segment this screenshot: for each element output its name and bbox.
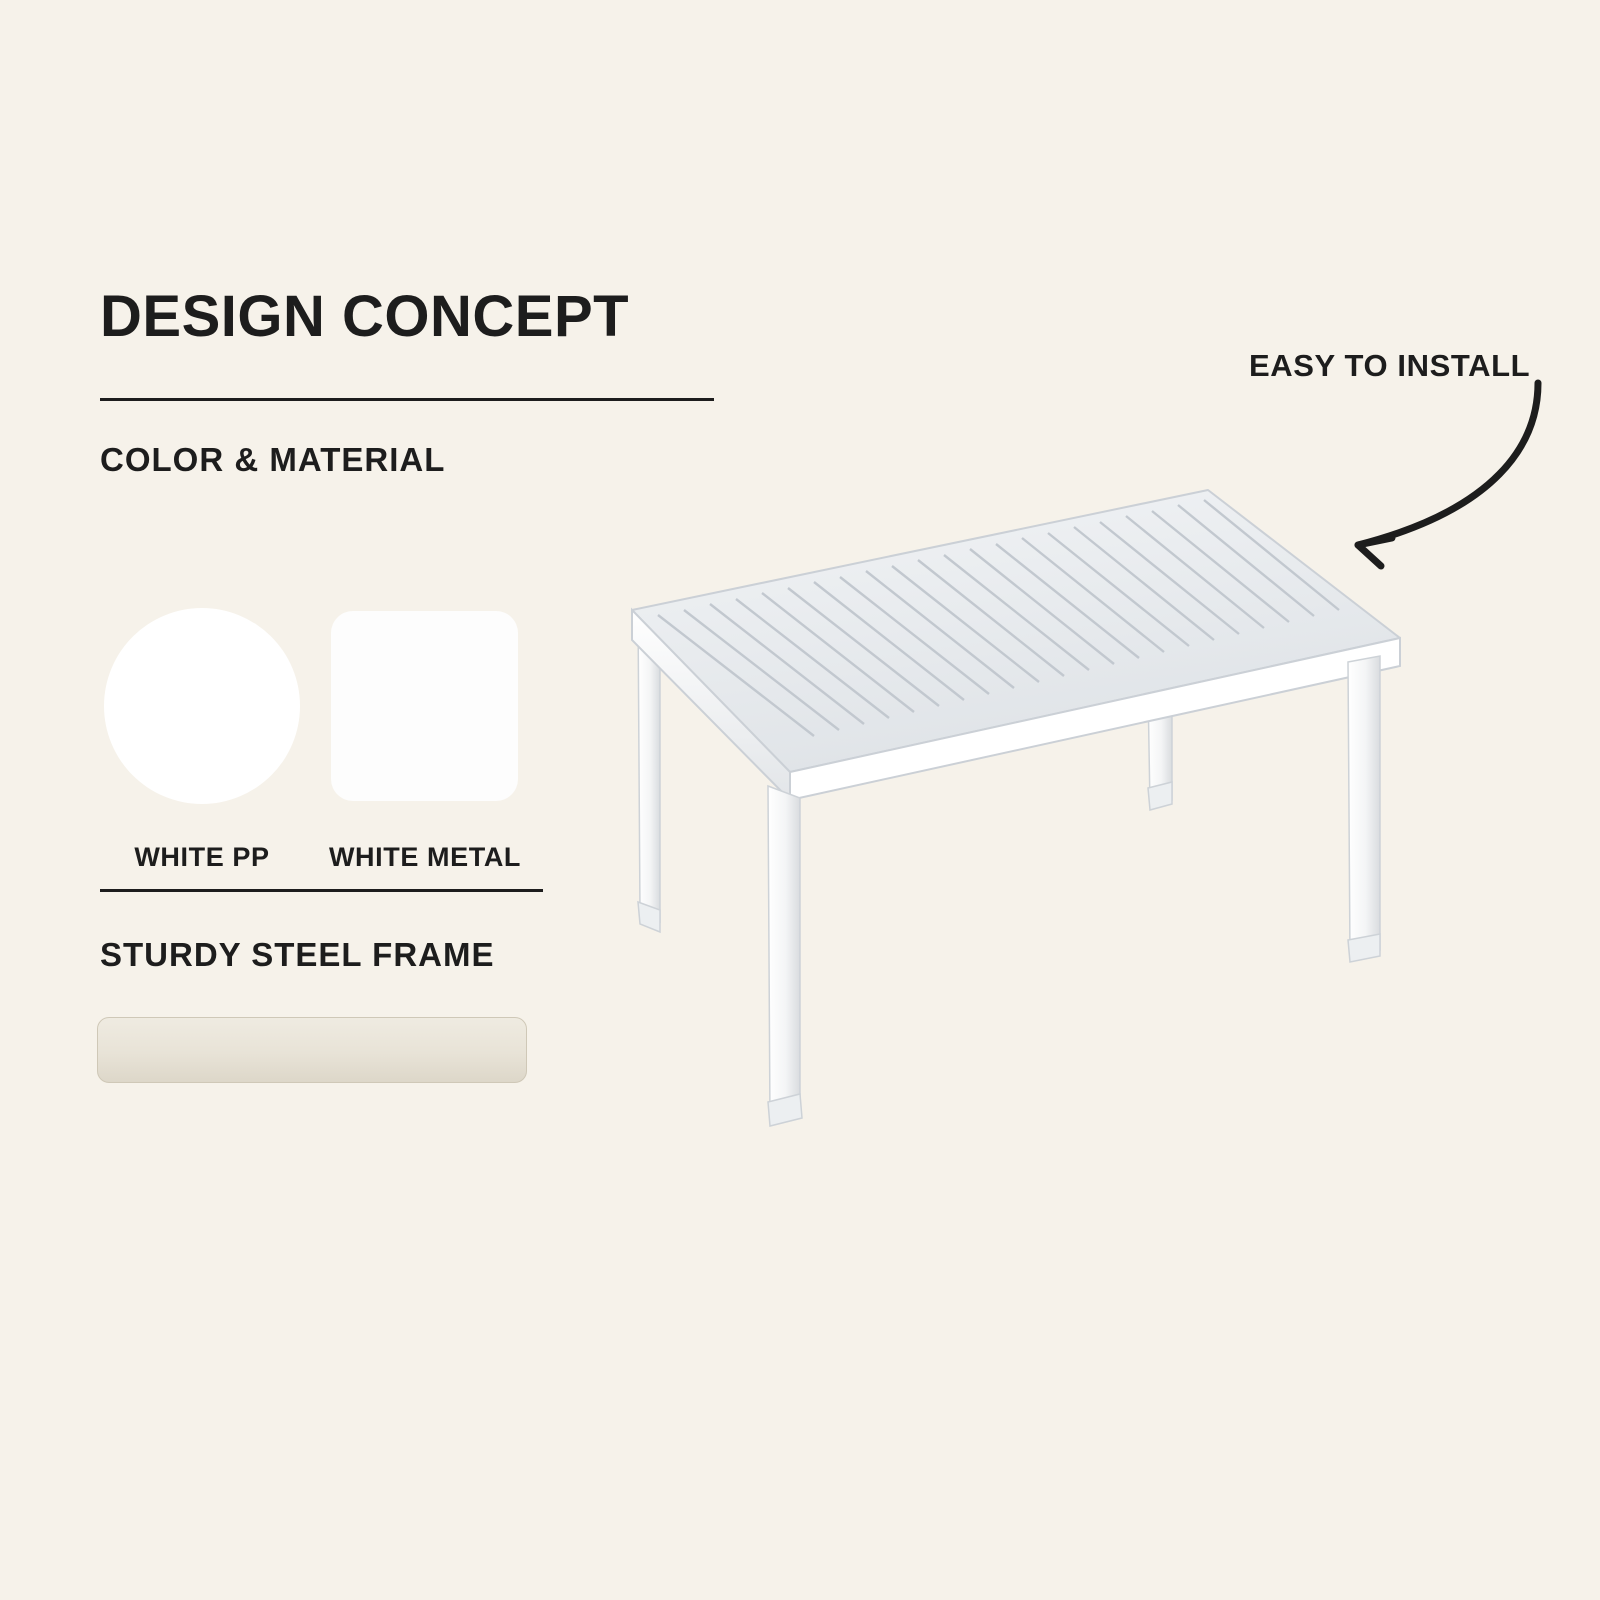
- swatch-white-pp: [104, 608, 300, 804]
- table-svg: [600, 470, 1480, 1150]
- section-title-sturdy-steel-frame: STURDY STEEL FRAME: [100, 936, 495, 974]
- section-title-color-material: COLOR & MATERIAL: [100, 441, 445, 479]
- page-title: DESIGN CONCEPT: [100, 288, 629, 346]
- swatch-divider: [100, 889, 543, 892]
- swatch-white-metal: [331, 611, 518, 801]
- product-illustration: [600, 470, 1480, 1150]
- steel-frame-sample: [97, 1017, 527, 1083]
- table-leg-front-right: [1348, 656, 1380, 962]
- table-leg-front-left: [768, 786, 802, 1126]
- swatch-label-white-metal: WHITE METAL: [325, 842, 525, 873]
- title-divider: [100, 398, 714, 401]
- swatch-label-white-pp: WHITE PP: [104, 842, 300, 873]
- poster-canvas: DESIGN CONCEPT COLOR & MATERIAL WHITE PP…: [0, 0, 1600, 1600]
